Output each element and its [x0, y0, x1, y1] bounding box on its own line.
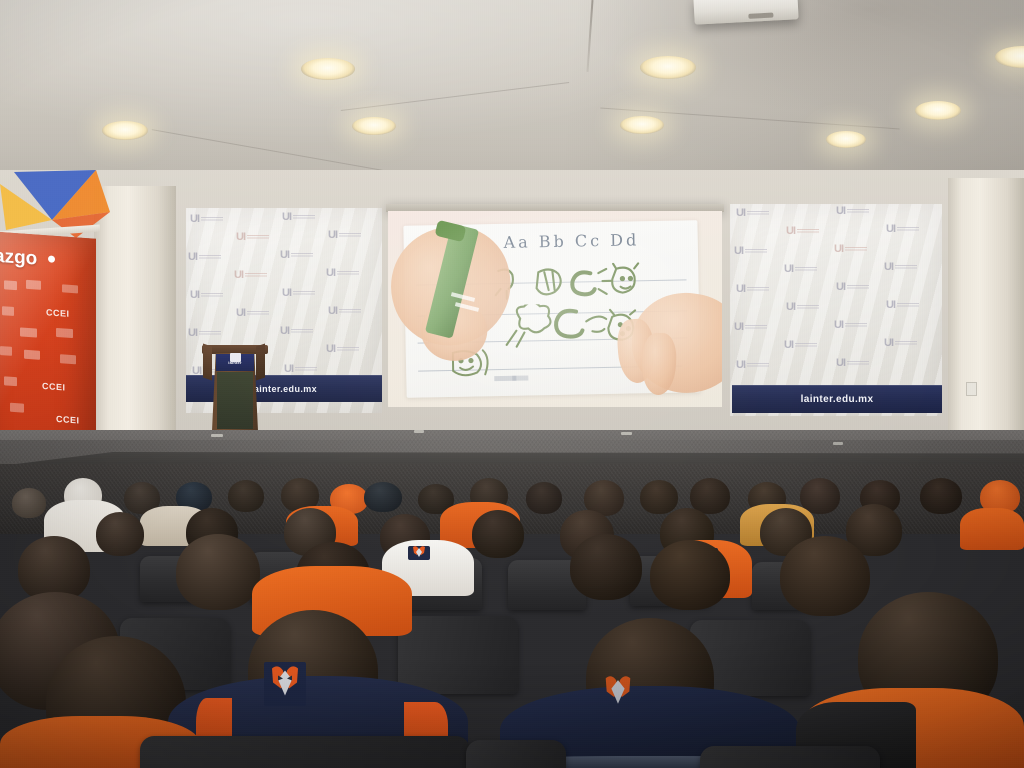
- ui-logo-text: UI: [188, 328, 197, 339]
- ui-logo-bar: [797, 305, 819, 310]
- ui-logo-text: UI: [834, 320, 843, 331]
- ui-logo-bar: [293, 291, 315, 296]
- audience-head: [96, 512, 144, 556]
- banner-url-text: lainter.edu.mx: [251, 384, 317, 394]
- ui-logo-bar: [747, 211, 769, 216]
- ui-logo-bar: [291, 329, 313, 334]
- ui-logo-text: UI: [884, 262, 893, 273]
- ui-logo-text: UI: [886, 224, 895, 235]
- ui-logo-text: UI: [886, 300, 895, 311]
- eagle-mascot-icon: [601, 673, 635, 714]
- floor-marker-tape: [211, 434, 223, 437]
- auditorium-photo: UI UI UI UI UI UI UI UI UI UI UI UI UI U…: [0, 0, 1024, 768]
- ui-logo-bar: [337, 347, 359, 352]
- projection-screen: Aa Bb Cc Dd: [388, 211, 722, 407]
- ui-logo-text: UI: [236, 308, 245, 319]
- ui-logo-bar: [895, 265, 917, 270]
- ui-logo-text: UI: [280, 326, 289, 337]
- ui-logo-text: UI: [190, 290, 199, 301]
- ceiling-downlight: [640, 56, 696, 79]
- ui-logo-text: UI: [736, 360, 745, 371]
- ui-logo-text: UI: [328, 230, 337, 241]
- audience-head: [650, 540, 730, 610]
- banner-headline-text: azgo: [0, 246, 37, 271]
- ui-logo-text: UI: [836, 206, 845, 217]
- ui-logo-bar: [845, 323, 867, 328]
- audience-head: [920, 478, 962, 514]
- ui-logo-text: UI: [736, 208, 745, 219]
- ui-logo-bar: [747, 363, 769, 368]
- ui-logo-bar: [745, 325, 767, 330]
- jacket-mascot-patch: [264, 662, 306, 706]
- ui-logo-bar: [339, 233, 361, 238]
- ui-logo-bar: [747, 287, 769, 292]
- ui-logo-bar: [897, 303, 919, 308]
- eagle-mascot-icon: [410, 546, 428, 560]
- ui-logo-bar: [295, 367, 317, 372]
- ui-logo-text: UI: [786, 226, 795, 237]
- ui-logo-text: UI: [282, 212, 291, 223]
- ui-logo-bar: [201, 217, 223, 222]
- ccei-logo-text: CCEI: [42, 381, 66, 393]
- ui-logo-bar: [293, 215, 315, 220]
- audience-head: [176, 534, 260, 610]
- ui-logo-bar: [895, 341, 917, 346]
- ui-logo-text: UI: [326, 344, 335, 355]
- wall-column-right: [948, 178, 1024, 464]
- ui-logo-bar: [845, 247, 867, 252]
- ui-logo-text: UI: [190, 214, 199, 225]
- ui-logo-text: UI: [836, 358, 845, 369]
- ui-logo-bar: [795, 267, 817, 272]
- podium-front-panel: [217, 372, 253, 429]
- ui-logo-bar: [245, 273, 267, 278]
- ui-logo-bar: [291, 253, 313, 258]
- audience-head: [526, 482, 562, 514]
- projected-slide: Aa Bb Cc Dd: [388, 211, 722, 407]
- ui-logo-text: UI: [282, 288, 291, 299]
- ui-logo-bar: [247, 311, 269, 316]
- ui-logo-text: UI: [328, 306, 337, 317]
- ui-logo-text: UI: [786, 302, 795, 313]
- banner-url-bar-right: lainter.edu.mx: [732, 385, 942, 413]
- ui-logo-bar: [339, 309, 361, 314]
- ceiling-downlight: [620, 116, 664, 134]
- ui-logo-bar: [247, 235, 269, 240]
- ui-logo-text: UI: [784, 340, 793, 351]
- jacket-mascot-patch: [598, 672, 638, 714]
- ui-logo-text: UI: [736, 284, 745, 295]
- floor-marker-tape: [621, 432, 632, 435]
- ui-logo-text: UI: [236, 232, 245, 243]
- ui-logo-bar: [795, 343, 817, 348]
- ui-logo-text: UI: [326, 268, 335, 279]
- podium-right-wing: [256, 344, 265, 381]
- audience-head: [12, 488, 46, 518]
- ui-logo-bar: [847, 361, 869, 366]
- ccei-logo-text: CCEI: [56, 414, 80, 426]
- headline-dot: [48, 255, 55, 262]
- ceiling-downlight: [826, 131, 866, 148]
- banner-url-text: lainter.edu.mx: [801, 394, 874, 405]
- audience-head: [228, 480, 264, 512]
- ceiling-downlight: [352, 117, 396, 135]
- ui-logo-bar: [745, 249, 767, 254]
- ui-logo-bar: [337, 271, 359, 276]
- audience-body-orange: [960, 508, 1024, 550]
- ceiling-downlight: [102, 121, 148, 140]
- auditorium-seat-front[interactable]: [466, 740, 566, 768]
- ui-logo-bar: [847, 209, 869, 214]
- ui-logo-bar: [897, 227, 919, 232]
- audience-head: [780, 536, 870, 616]
- ui-logo-bar: [199, 255, 221, 260]
- ui-logo-text: UI: [284, 364, 293, 375]
- slide-alphabet-text: Aa Bb Cc Dd: [503, 230, 639, 252]
- audience-head-cap: [364, 482, 402, 512]
- ui-logo-text: UI: [734, 322, 743, 333]
- auditorium-seat-front[interactable]: [140, 736, 470, 768]
- audience-section: INTER: [0, 440, 1024, 768]
- ui-logo-text: UI: [884, 338, 893, 349]
- light-switch-plate[interactable]: [966, 382, 977, 396]
- ui-logo-bar: [847, 285, 869, 290]
- ui-logo-text: UI: [834, 244, 843, 255]
- audience-head: [570, 534, 642, 600]
- ui-logo-text: UI: [734, 246, 743, 257]
- auditorium-seat-front[interactable]: [700, 746, 880, 768]
- ceiling-downlight: [301, 58, 355, 80]
- audience-head: [640, 480, 678, 514]
- ui-logo-bar: [199, 331, 221, 336]
- ui-logo-text: UI: [836, 282, 845, 293]
- ceiling-downlight: [915, 101, 961, 120]
- projector-lens: [748, 13, 773, 19]
- slide-doodle-row1: [492, 262, 643, 305]
- audience-head: [472, 510, 524, 558]
- auditorium-seat[interactable]: [398, 616, 518, 694]
- ui-logo-text: UI: [280, 250, 289, 261]
- ui-logo-bar: [201, 293, 223, 298]
- podium-left-wing: [203, 344, 212, 381]
- floor-marker-tape: [414, 430, 424, 433]
- ccei-logo-text: CCEI: [46, 307, 70, 319]
- eagle-mascot-icon: [267, 663, 303, 706]
- ui-logo-text: UI: [784, 264, 793, 275]
- ui-logo-text: UI: [188, 252, 197, 263]
- ui-logo-text: UI: [234, 270, 243, 281]
- ui-logo-bar: [797, 229, 819, 234]
- podium-ui-emblem: [230, 353, 241, 362]
- jersey-crest: [408, 546, 430, 560]
